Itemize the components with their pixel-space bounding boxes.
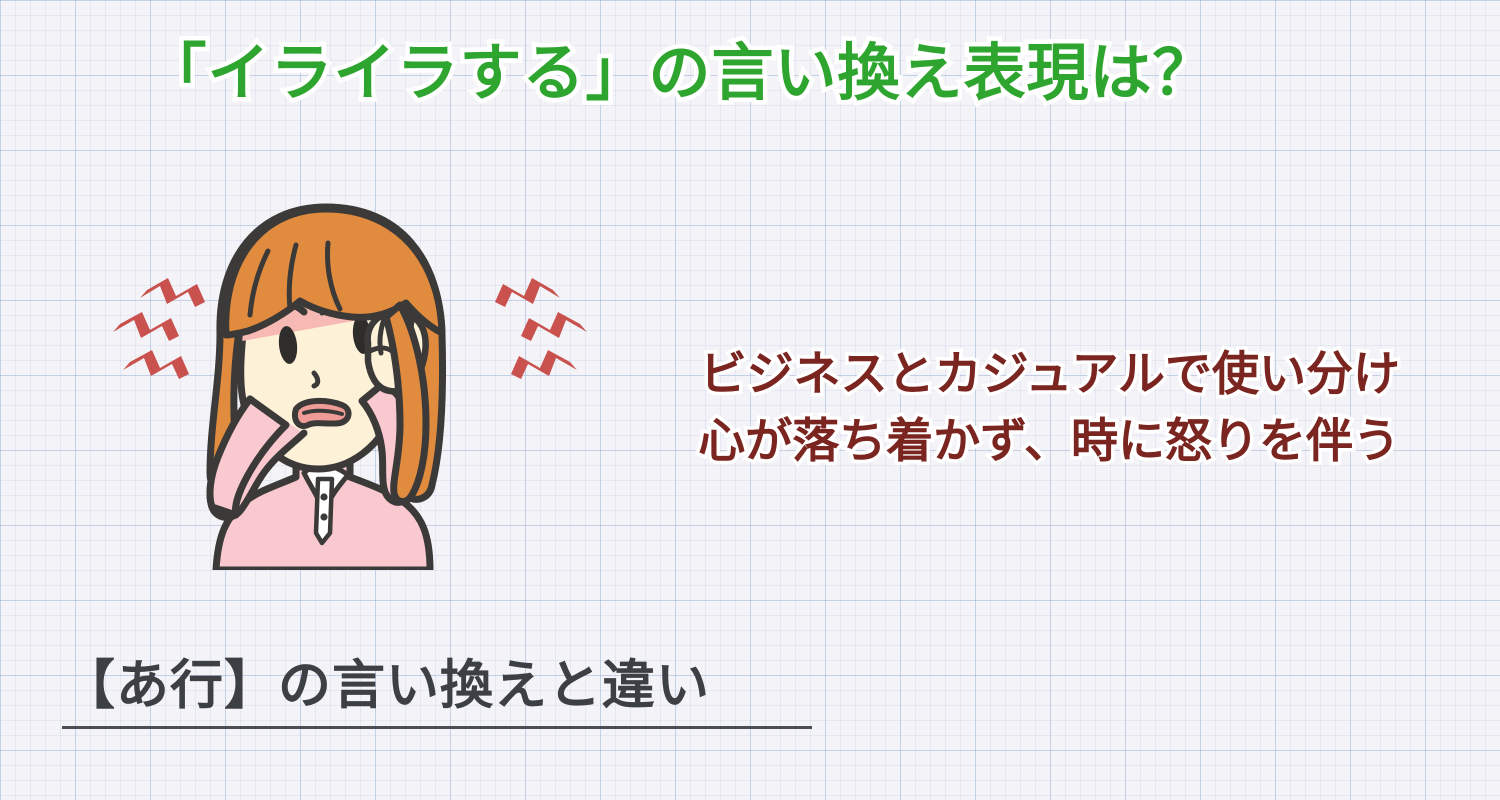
irritated-woman-illustration [100, 185, 600, 570]
description-line-2: 心が落ち着かず、時に怒りを伴う [698, 409, 1400, 476]
thumbnail-canvas: 「イライラする」の言い換え表現は？ [0, 0, 1500, 800]
anger-mark-left-group [113, 278, 205, 379]
footer-block: 【あ行】の言い換えと違い [62, 655, 817, 729]
button-upper [320, 493, 327, 500]
footer-label: 【あ行】の言い換えと違い [62, 655, 817, 718]
anger-mark-right-group [495, 278, 587, 379]
footer-underline [62, 726, 812, 729]
description-block: ビジネスとカジュアルで使い分け 心が落ち着かず、時に怒りを伴う [698, 342, 1400, 475]
page-title: 「イライラする」の言い換え表現は？ [0, 42, 1360, 104]
description-line-1: ビジネスとカジュアルで使い分け [698, 342, 1400, 409]
button-lower [320, 513, 327, 520]
collar-placket [316, 479, 332, 543]
